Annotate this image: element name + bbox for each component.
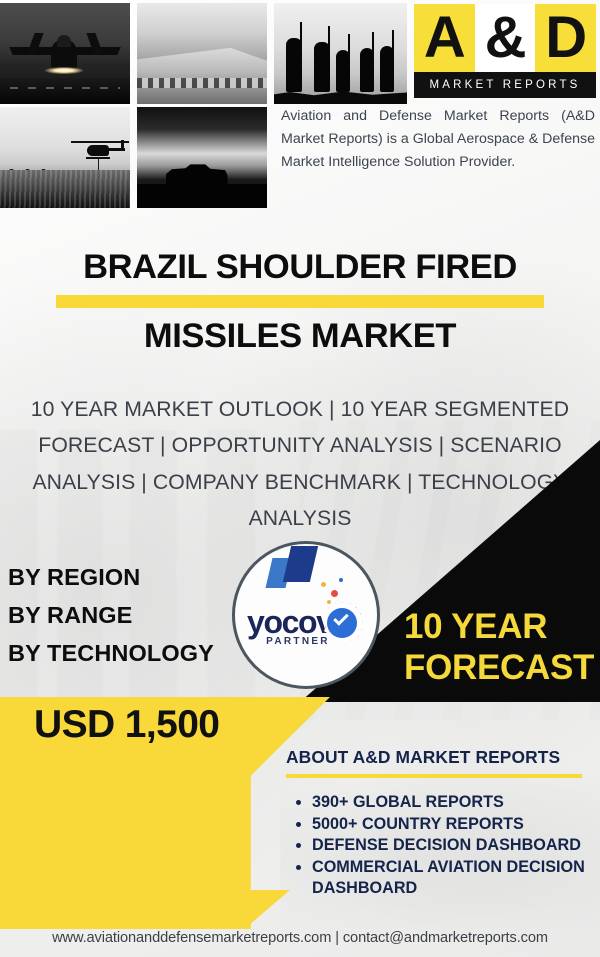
logo-subtitle-bar: MARKET REPORTS [414,72,596,98]
verified-check-icon [321,602,363,644]
about-section: ABOUT A&D MARKET REPORTS 390+ GLOBAL REP… [286,747,586,900]
title-yellow-rule [56,295,544,308]
page-title: BRAZIL SHOULDER FIRED MISSILES MARKET [0,248,600,355]
yocova-partner-badge[interactable]: yocova PARTNER [232,541,380,689]
about-bullet-country-reports: 5000+ COUNTRY REPORTS [312,814,586,835]
logo-letter-a: A [414,4,475,72]
title-line-2: MISSILES MARKET [0,317,600,356]
logo-subtitle-text: MARKET REPORTS [429,79,580,91]
marketing-poster: A & D MARKET REPORTS Aviation and Defens… [0,0,600,957]
confetti-dot-red-icon [331,590,338,597]
title-line-1: BRAZIL SHOULDER FIRED [0,248,600,287]
field-ground [0,170,130,208]
company-logo[interactable]: A & D MARKET REPORTS [414,4,596,98]
about-bullet-commercial-aviation-dashboard: COMMERCIAL AVIATION DECISION DASHBOARD [312,857,586,898]
photo-military-helicopter-over-field [0,107,130,208]
forecast-callout: 10 YEAR FORECAST [404,607,600,688]
photo-soldiers-silhouette [274,3,407,104]
logo-letter-tiles: A & D [414,4,596,72]
about-bullet-global-reports: 390+ GLOBAL REPORTS [312,792,586,813]
segmentation-item-technology: BY TECHNOLOGY [8,634,214,672]
price-amount: USD 1,500 [34,703,219,747]
forecast-line-2: FORECAST [404,648,600,689]
about-heading: ABOUT A&D MARKET REPORTS [286,747,586,768]
photo-armored-vehicle-at-dusk [137,107,267,208]
about-bullet-list: 390+ GLOBAL REPORTS 5000+ COUNTRY REPORT… [312,792,586,899]
forecast-line-1: 10 YEAR [404,607,600,648]
helicopter-icon [73,137,127,163]
logo-letter-ampersand: & [475,4,536,72]
footer-contact: www.aviationanddefensemarketreports.com … [0,930,600,946]
about-heading-underline [286,774,582,778]
report-scope-text: 10 YEAR MARKET OUTLOOK | 10 YEAR SEGMENT… [14,392,586,538]
carrier-deck [0,78,130,104]
armored-vehicle-icon [166,162,228,186]
photo-fighter-jet-on-carrier-deck [0,3,130,104]
segmentation-item-region: BY REGION [8,558,214,596]
about-bullet-defense-dashboard: DEFENSE DECISION DASHBOARD [312,835,586,856]
segmentation-item-range: BY RANGE [8,596,214,634]
photo-naval-warship [137,3,267,104]
soldiers-icon [274,26,407,104]
warship-icon [137,32,267,104]
footer-yellow-corner [0,890,290,957]
confetti-dot-blue-icon [339,578,343,582]
fighter-jet-icon [9,33,121,79]
confetti-dot-yellow-icon [321,582,326,587]
company-intro-text: Aviation and Defense Market Reports (A&D… [281,105,595,174]
segmentation-list: BY REGION BY RANGE BY TECHNOLOGY [8,558,214,672]
yocova-flag-dark-icon [283,546,318,582]
logo-letter-d: D [535,4,596,72]
